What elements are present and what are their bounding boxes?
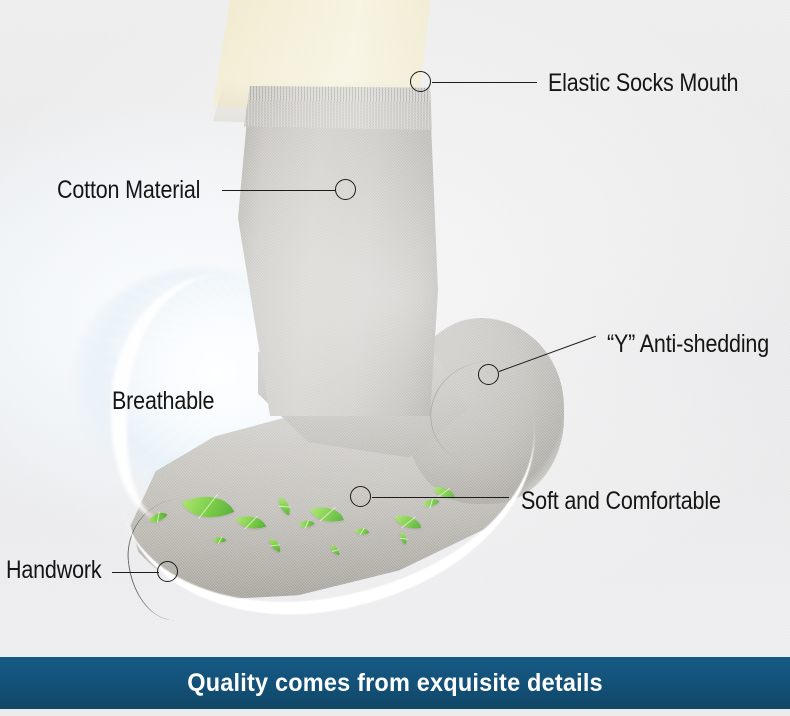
callout-label-breathable: Breathable bbox=[112, 387, 214, 416]
callout-marker-elastic-socks-mouth bbox=[410, 71, 431, 92]
product-infographic: Elastic Socks MouthCotton Material“Y” An… bbox=[0, 0, 790, 716]
callout-label-y-anti-shedding: “Y” Anti-shedding bbox=[607, 330, 769, 359]
callout-marker-cotton-material bbox=[335, 179, 356, 200]
callout-leader-soft-and-comfortable bbox=[372, 497, 509, 498]
bottom-banner: Quality comes from exquisite details bbox=[0, 657, 790, 709]
callout-leader-elastic-socks-mouth bbox=[432, 82, 537, 83]
callout-label-soft-and-comfortable: Soft and Comfortable bbox=[521, 487, 721, 516]
callout-label-handwork: Handwork bbox=[6, 556, 101, 585]
callout-leader-handwork bbox=[112, 572, 159, 573]
sock-cuff bbox=[238, 86, 438, 130]
callout-marker-y-anti-shedding bbox=[478, 364, 499, 385]
callout-label-cotton-material: Cotton Material bbox=[57, 176, 200, 205]
banner-footer-strip bbox=[0, 709, 790, 716]
callout-leader-cotton-material bbox=[222, 190, 336, 191]
callout-label-elastic-socks-mouth: Elastic Socks Mouth bbox=[548, 69, 738, 98]
banner-text: Quality comes from exquisite details bbox=[187, 669, 603, 698]
callout-marker-handwork bbox=[157, 561, 178, 582]
callout-marker-soft-and-comfortable bbox=[350, 486, 371, 507]
